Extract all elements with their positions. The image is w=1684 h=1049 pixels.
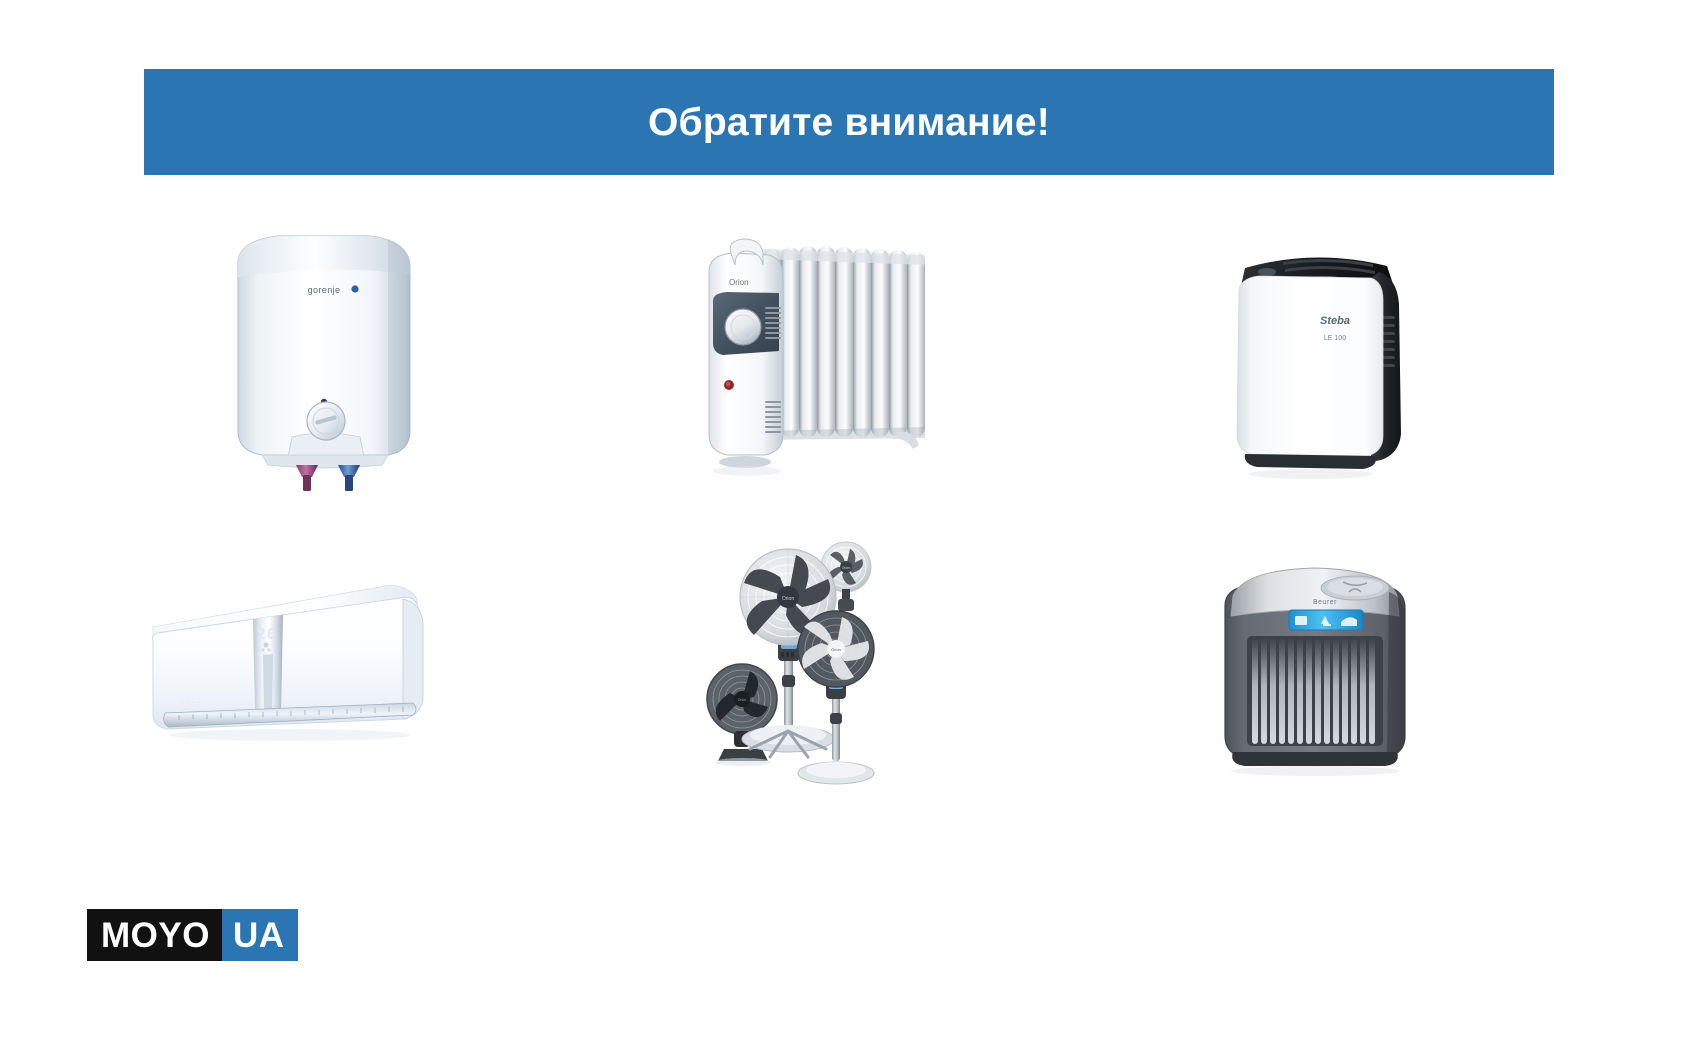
water-heater-icon: gorenje [220, 225, 430, 495]
fan-height-clamp[interactable] [782, 675, 795, 687]
product-image-fans: Orion Orion [630, 515, 960, 815]
ac-temperature-display: 26 [257, 626, 278, 643]
product-image-water-heater: gorenje [160, 215, 490, 505]
logo-ua-text: UA [233, 918, 285, 953]
svg-text:gorenje: gorenje [308, 285, 341, 295]
svg-text:Orion: Orion [831, 647, 841, 652]
air-washer-brand-text: Beurer [1312, 599, 1336, 606]
ac-brand-text: · · · · [181, 700, 201, 706]
dehumidifier-power-button[interactable] [1258, 268, 1276, 276]
radiator-thermostat-knob[interactable] [725, 309, 761, 345]
product-image-dehumidifier: Steba LE 100 [1150, 215, 1480, 505]
header-banner: Обратите внимание! [144, 69, 1554, 175]
svg-text:Steba: Steba [1320, 315, 1350, 327]
air-washer-base [1232, 752, 1398, 766]
page-title: Обратите внимание! [648, 103, 1050, 142]
air-conditioner-icon: 26 · · · · [145, 583, 445, 758]
brand-logo: MOYO UA [87, 909, 304, 961]
product-image-oil-radiator: Orion [630, 215, 960, 505]
product-image-air-conditioner: 26 · · · · [100, 525, 490, 815]
fan-brand-text: Orion [782, 596, 794, 602]
oil-radiator-icon: Orion [661, 235, 929, 485]
svg-text:Orion: Orion [738, 698, 747, 702]
pedestal-fan-secondary: Orion [798, 611, 874, 784]
logo-ua-block: UA [222, 909, 298, 961]
water-heater-pipes [296, 465, 360, 491]
radiator-brand-text: Orion [729, 278, 749, 287]
logo-moyo-block: MOYO [87, 909, 222, 961]
product-image-grid: gorenje [60, 205, 1620, 825]
dehumidifier-base [1245, 454, 1376, 469]
air-washer-icon: Beurer [1203, 540, 1428, 780]
dehumidifier-icon: Steba LE 100 [1211, 238, 1419, 483]
radiator-fins [761, 246, 925, 440]
ac-side-cap [403, 599, 423, 719]
logo-moyo-text: MOYO [101, 918, 210, 953]
radiator-control-panel: Orion [709, 239, 783, 455]
svg-text:Orion: Orion [842, 566, 851, 570]
dehumidifier-model-text: LE 100 [1324, 335, 1346, 342]
product-image-air-washer: Beurer [1150, 510, 1480, 810]
fans-icon: Orion Orion [700, 535, 890, 795]
